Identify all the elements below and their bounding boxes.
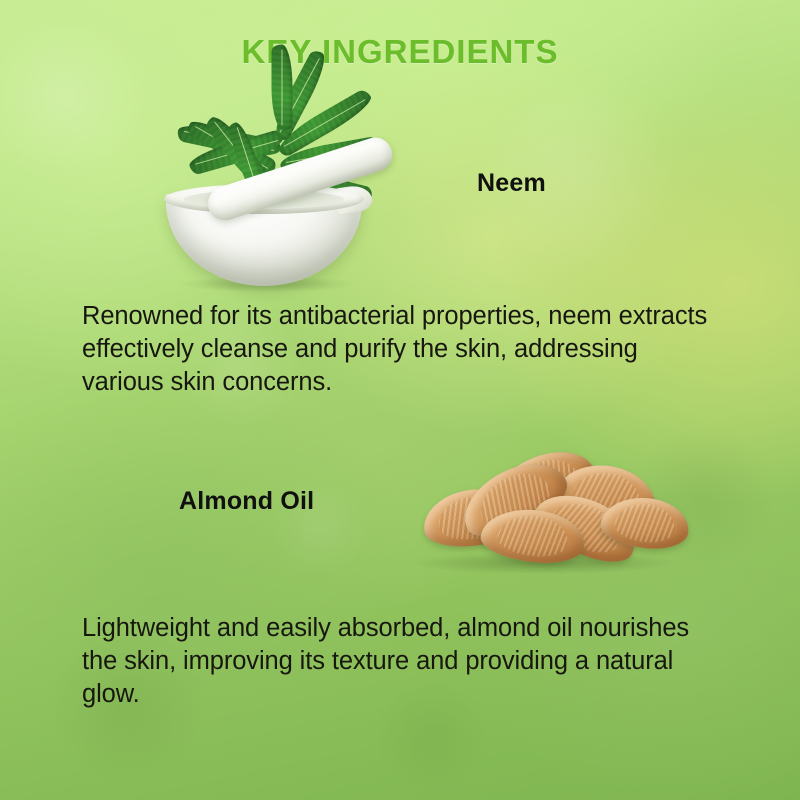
page-title: KEY INGREDIENTS [0, 33, 800, 71]
neem-leaf-icon [272, 45, 293, 131]
neem-mortar-and-pestle-image [150, 100, 410, 285]
ingredient-label-almond-oil: Almond Oil [179, 487, 314, 516]
key-ingredients-poster: KEY INGREDIENTS Neem Renowned for its an… [0, 0, 800, 800]
ingredient-description-almond-oil: Lightweight and easily absorbed, almond … [82, 612, 722, 711]
almonds-pile-image [405, 448, 690, 578]
ingredient-label-neem: Neem [477, 169, 546, 198]
ingredient-description-neem: Renowned for its antibacterial propertie… [82, 300, 722, 399]
